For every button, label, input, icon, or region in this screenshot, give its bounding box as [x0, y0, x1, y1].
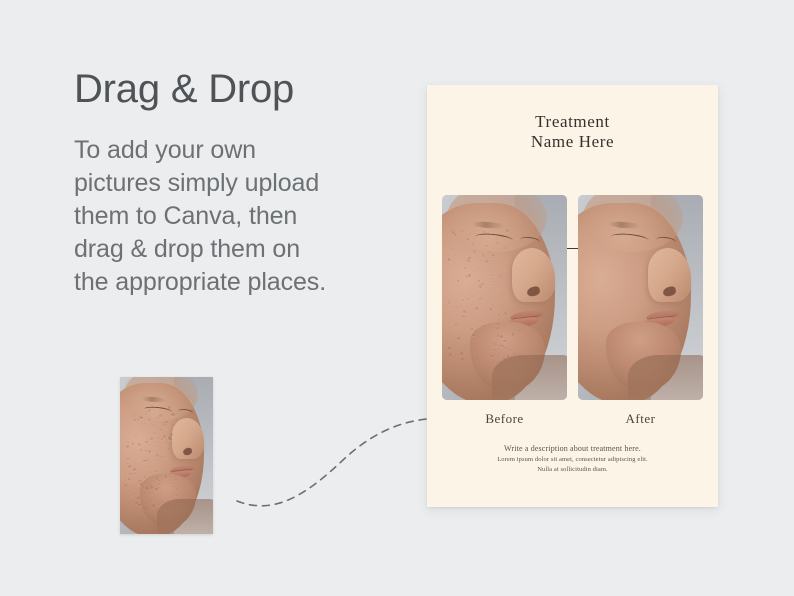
label-after-wrap: After [578, 410, 703, 428]
instructions-block: Drag & Drop To add your own pictures sim… [74, 66, 374, 299]
description-line-1: Write a description about treatment here… [449, 443, 696, 455]
canvas-stage: Drag & Drop To add your own pictures sim… [0, 0, 794, 596]
draggable-photo-thumbnail[interactable] [120, 377, 213, 534]
face-neck [628, 355, 703, 400]
face-photo-before [120, 377, 213, 534]
description-line-2: Lorem ipsum dolor sit amet, consectetur … [449, 455, 696, 465]
poster-title: Treatment Name Here [427, 112, 718, 152]
photo-labels-row: Before After [442, 410, 703, 428]
face-acne-scars [442, 195, 567, 400]
face-acne-scars [120, 377, 213, 534]
poster-template-card[interactable]: Treatment Name Here [427, 85, 718, 507]
poster-title-line-2: Name Here [427, 132, 718, 152]
label-after: After [626, 411, 656, 426]
label-before: Before [485, 411, 523, 426]
photo-slot-before[interactable] [442, 195, 567, 400]
face-photo-before [442, 195, 567, 400]
label-before-wrap: Before [442, 410, 567, 428]
page-title: Drag & Drop [74, 66, 374, 112]
photo-slot-after[interactable] [578, 195, 703, 400]
poster-title-line-1: Treatment [427, 112, 718, 132]
instructions-body: To add your own pictures simply upload t… [74, 134, 332, 299]
description-line-3: Nulla at sollicitudin diam. [449, 465, 696, 475]
face-photo-after [578, 195, 703, 400]
poster-description: Write a description about treatment here… [449, 443, 696, 475]
before-after-photo-row [442, 195, 703, 400]
